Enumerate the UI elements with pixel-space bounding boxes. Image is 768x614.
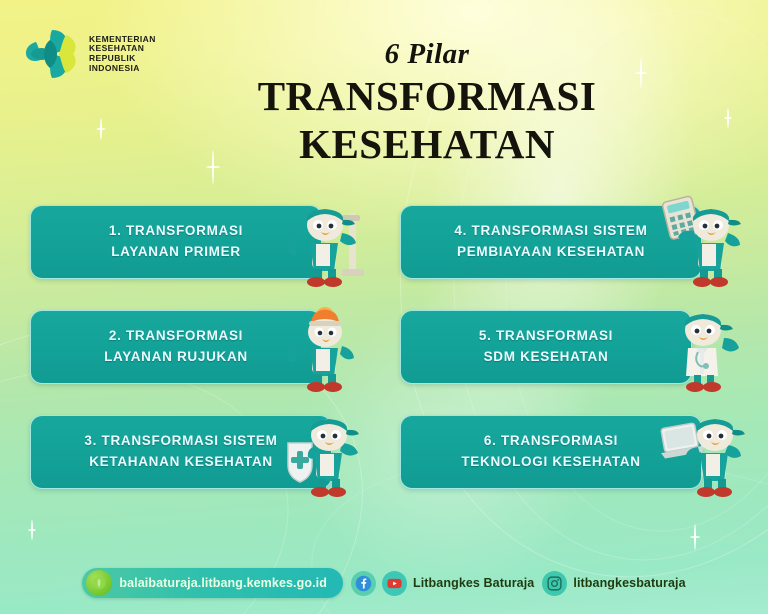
website-url: balaibaturaja.litbang.kemkes.go.id bbox=[119, 576, 327, 590]
pillar-row: 2. TRANSFORMASI LAYANAN RUJUKAN bbox=[0, 310, 768, 415]
pillar-pill[interactable]: 2. TRANSFORMASI LAYANAN RUJUKAN bbox=[30, 310, 322, 384]
sparkle-icon bbox=[28, 520, 36, 540]
pillar-line-1: 4. TRANSFORMASI SISTEM bbox=[454, 221, 647, 242]
pillar-card-6[interactable]: 6. TRANSFORMASI TEKNOLOGI KESEHATAN bbox=[400, 415, 730, 487]
pillar-line-2: PEMBIAYAAN KESEHATAN bbox=[457, 242, 645, 263]
pillar-pill[interactable]: 6. TRANSFORMASI TEKNOLOGI KESEHATAN bbox=[400, 415, 702, 489]
pillar-card-5[interactable]: 5. TRANSFORMASI SDM KESEHATAN bbox=[400, 310, 730, 382]
page-title: 6 Pilar TRANSFORMASI KESEHATAN bbox=[0, 38, 768, 168]
pillar-card-2[interactable]: 2. TRANSFORMASI LAYANAN RUJUKAN bbox=[30, 310, 360, 382]
infographic-poster: KEMENTERIAN KESEHATAN REPUBLIK INDONESIA… bbox=[0, 0, 768, 614]
title-kicker: 6 Pilar bbox=[86, 38, 768, 71]
youtube-icon[interactable] bbox=[382, 571, 407, 596]
pillar-grid: 1. TRANSFORMASI LAYANAN PRIMER bbox=[0, 205, 768, 520]
title-line-1: TRANSFORMASI bbox=[86, 73, 768, 119]
pillar-card-3[interactable]: 3. TRANSFORMASI SISTEM KETAHANAN KESEHAT… bbox=[30, 415, 360, 487]
pillar-pill[interactable]: 5. TRANSFORMASI SDM KESEHATAN bbox=[400, 310, 692, 384]
pillar-line-1: 2. TRANSFORMASI bbox=[109, 326, 243, 347]
pillar-line-2: LAYANAN RUJUKAN bbox=[104, 347, 248, 368]
mascot-ambulance-light-icon bbox=[280, 294, 376, 394]
pillar-line-2: TEKNOLOGI KESEHATAN bbox=[461, 452, 640, 473]
instagram-icon[interactable] bbox=[542, 571, 567, 596]
pillar-row: 1. TRANSFORMASI LAYANAN PRIMER bbox=[0, 205, 768, 310]
pillar-line-1: 3. TRANSFORMASI SISTEM bbox=[84, 431, 277, 452]
title-line-2: KESEHATAN bbox=[86, 121, 768, 167]
pillar-card-4[interactable]: 4. TRANSFORMASI SISTEM PEMBIAYAAN KESEHA… bbox=[400, 205, 730, 277]
social-facebook[interactable]: Litbangkes Baturaja bbox=[351, 571, 534, 596]
facebook-icon[interactable] bbox=[351, 571, 376, 596]
pillar-pill[interactable]: 1. TRANSFORMASI LAYANAN PRIMER bbox=[30, 205, 322, 279]
social-name: Litbangkes Baturaja bbox=[413, 576, 534, 590]
website-pill[interactable]: balaibaturaja.litbang.kemkes.go.id bbox=[82, 568, 343, 598]
pillar-line-1: 5. TRANSFORMASI bbox=[479, 326, 613, 347]
mascot-laptop-icon bbox=[658, 399, 754, 499]
mascot-height-measure-icon bbox=[280, 189, 376, 289]
sparkle-icon bbox=[690, 524, 700, 550]
pillar-card-1[interactable]: 1. TRANSFORMASI LAYANAN PRIMER bbox=[30, 205, 360, 277]
site-avatar-icon bbox=[86, 570, 112, 596]
mascot-calculator-icon bbox=[658, 189, 754, 289]
pillar-line-2: SDM KESEHATAN bbox=[484, 347, 609, 368]
footer-bar: balaibaturaja.litbang.kemkes.go.id Litba… bbox=[0, 566, 768, 600]
pillar-pill[interactable]: 4. TRANSFORMASI SISTEM PEMBIAYAAN KESEHA… bbox=[400, 205, 702, 279]
pillar-line-2: KETAHANAN KESEHATAN bbox=[89, 452, 273, 473]
instagram-handle: litbangkesbaturaja bbox=[573, 576, 685, 590]
social-instagram[interactable]: litbangkesbaturaja bbox=[542, 571, 685, 596]
mascot-shield-icon bbox=[280, 399, 376, 499]
pillar-line-1: 6. TRANSFORMASI bbox=[484, 431, 618, 452]
pillar-line-1: 1. TRANSFORMASI bbox=[109, 221, 243, 242]
mascot-doctor-coat-icon bbox=[658, 294, 754, 394]
pillar-row: 3. TRANSFORMASI SISTEM KETAHANAN KESEHAT… bbox=[0, 415, 768, 520]
pillar-line-2: LAYANAN PRIMER bbox=[111, 242, 241, 263]
